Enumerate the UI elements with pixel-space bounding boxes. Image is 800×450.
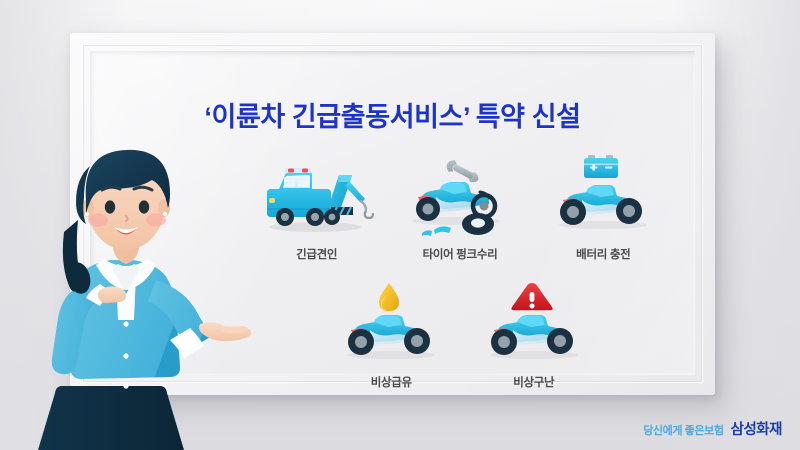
brand-tagline: 당신에게 좋은보험 (643, 422, 723, 438)
jacket-button (123, 383, 128, 388)
brand-footer: 당신에게 좋은보험 삼성화재 (643, 418, 782, 439)
service-row-bottom: 비상급유 (320, 281, 605, 390)
brand-name: 삼성화재 (731, 418, 782, 439)
service-item-emergency-rescue[interactable]: 비상구난 (463, 281, 606, 390)
motorcycle-warning-icon (470, 281, 598, 365)
service-label: 배터리 충전 (576, 246, 630, 262)
service-item-emergency-refuel[interactable]: 비상급유 (320, 281, 463, 390)
slide-canvas: ‘이륜차 긴급출동서비스’ 특약 신설 (0, 0, 800, 450)
jacket-button (123, 353, 128, 358)
service-item-battery-charge[interactable]: 배터리 충전 (532, 151, 675, 262)
motorcycle-oil-drop-icon (327, 281, 455, 365)
motorcycle-wrench-tire-icon (396, 151, 524, 237)
service-label: 긴급견인 (296, 246, 337, 262)
tow-truck-icon (253, 151, 381, 237)
eye (105, 200, 115, 213)
service-row-top: 긴급견인 (245, 151, 675, 262)
earring (85, 212, 89, 216)
jacket-button (123, 321, 128, 326)
service-label: 비상급유 (371, 374, 412, 390)
presenter-character (8, 128, 258, 450)
earring (163, 212, 167, 216)
eye (139, 200, 149, 213)
service-label: 비상구난 (513, 374, 554, 390)
service-label: 타이어 펑크수리 (423, 246, 498, 262)
blush (146, 214, 166, 227)
blush (88, 214, 108, 227)
motorcycle-battery-icon (539, 151, 667, 237)
service-item-tire-puncture-repair[interactable]: 타이어 펑크수리 (388, 151, 531, 262)
skirt (38, 386, 184, 450)
service-item-emergency-tow[interactable]: 긴급견인 (245, 151, 388, 262)
